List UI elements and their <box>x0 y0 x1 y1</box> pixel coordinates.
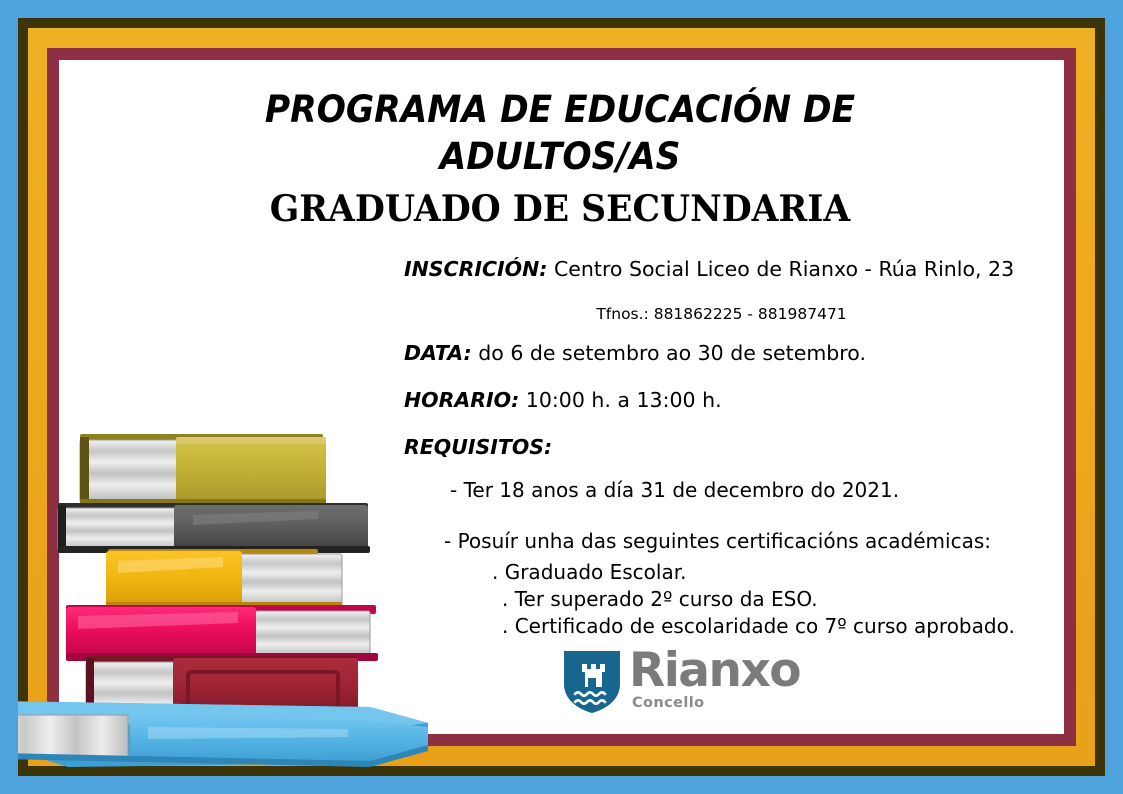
logo-name: Rianxo <box>629 648 800 694</box>
horario-value: 10:00 h. a 13:00 h. <box>519 388 721 412</box>
poster-subtitle: GRADUADO DE SECUNDARIA <box>205 188 915 230</box>
horario-label: HORARIO: <box>404 388 519 412</box>
shield-icon <box>563 650 621 714</box>
detail-row-requisitos: REQUISITOS: <box>404 436 552 460</box>
poster-title: PROGRAMA DE EDUCACIÓN DE ADULTOS/AS <box>216 86 904 181</box>
data-value: do 6 de setembro ao 30 de setembro. <box>472 341 866 365</box>
book-1-olive-yellow <box>80 434 326 506</box>
requisito-sub-escolaridade: . Certificado de escolaridade co 7º curs… <box>492 613 1015 640</box>
detail-row-inscricion: INSCRICIÓN: Centro Social Liceo de Rianx… <box>404 258 1014 282</box>
detail-row-horario: HORARIO: 10:00 h. a 13:00 h. <box>404 389 722 413</box>
book-6-light-blue <box>18 701 428 767</box>
books-stack-svg <box>18 415 448 775</box>
logo-subtitle: Concello <box>632 696 800 711</box>
books-stack-illustration <box>18 415 448 775</box>
inscricion-label: INSCRICIÓN: <box>404 257 547 281</box>
requisito-sub-list: . Graduado Escolar. . Ter superado 2º cu… <box>492 559 1015 640</box>
poster-title-line1: PROGRAMA DE EDUCACIÓN DE <box>216 86 904 133</box>
book-3-gold <box>106 549 342 609</box>
poster-title-line2: ADULTOS/AS <box>216 133 904 180</box>
detail-row-telephones: Tfnos.: 881862225 - 881987471 <box>404 306 1039 324</box>
book-4-pink <box>66 605 378 661</box>
requisito-sub-graduado-escolar: . Graduado Escolar. <box>492 559 1015 586</box>
detail-row-data: DATA: do 6 de setembro ao 30 de setembro… <box>404 342 866 366</box>
logo-text-block: Rianxo Concello <box>629 648 800 711</box>
rianxo-concello-logo: Rianxo Concello <box>563 650 823 718</box>
requisito-item-certifications: - Posuír unha das seguintes certificació… <box>444 531 991 551</box>
inscricion-value: Centro Social Liceo de Rianxo - Rúa Rinl… <box>547 257 1014 281</box>
requisito-item-age: - Ter 18 anos a día 31 de decembro do 20… <box>450 480 899 500</box>
requisito-sub-eso: . Ter superado 2º curso da ESO. <box>492 586 1015 613</box>
data-label: DATA: <box>404 341 472 365</box>
book-2-dark-gray <box>58 503 370 553</box>
requisitos-label: REQUISITOS: <box>404 435 552 459</box>
